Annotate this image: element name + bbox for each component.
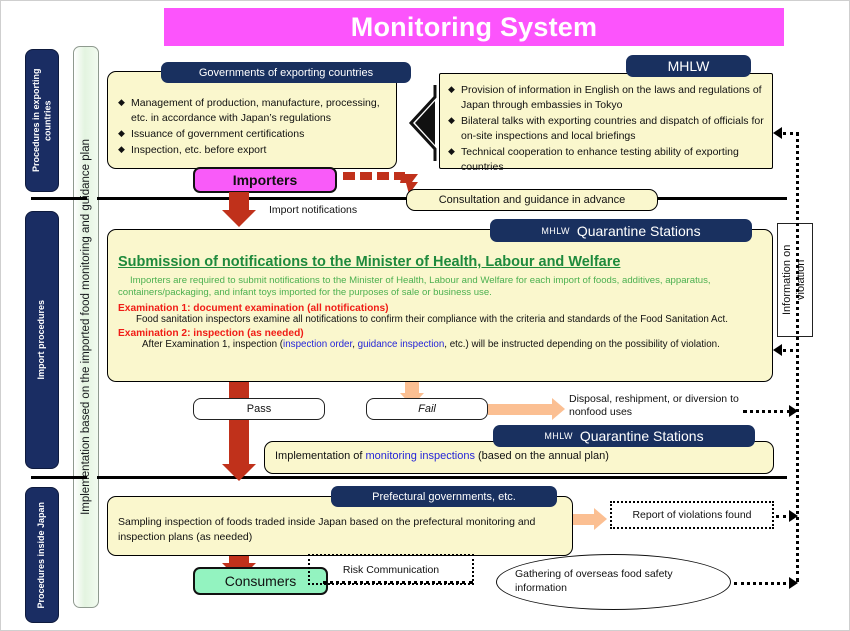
- disposal-feedback-line: [743, 410, 791, 413]
- consultation-box: Consultation and guidance in advance: [406, 189, 658, 211]
- violation-arrow-submission-icon: [773, 344, 782, 356]
- exam2-title: Examination 2: inspection (as needed): [118, 328, 762, 339]
- disposal-label: Disposal, reshipment, or diversion to no…: [569, 393, 749, 419]
- consumers-label: Consumers: [225, 573, 297, 589]
- mhlw-top-tab-label: MHLW: [668, 58, 710, 74]
- mhlw-top-panel: Provision of information in English on t…: [439, 73, 773, 169]
- monitoring-system-diagram: Monitoring System Procedures in exportin…: [0, 0, 850, 631]
- quarantine-name-1: Quarantine Stations: [577, 223, 701, 239]
- mhlw-top-tab: MHLW: [626, 55, 751, 77]
- quarantine-agency-1: MHLW: [541, 226, 569, 236]
- red-arrow-shaft-1: [229, 192, 249, 211]
- fail-box: Fail: [366, 398, 488, 420]
- importers-box[interactable]: Importers: [193, 167, 337, 193]
- mhlw-top-bullet-1: Provision of information in English on t…: [448, 83, 764, 113]
- overseas-gathering-ellipse: Gathering of overseas food safety inform…: [496, 554, 731, 610]
- exporting-gov-bullet-1: Management of production, manufacture, p…: [118, 96, 388, 126]
- report-violations-box: Report of violations found: [610, 501, 774, 529]
- red-arrow-shaft-2: [229, 382, 249, 468]
- phase-label-exporting-countries: Procedures in exporting countries: [25, 49, 59, 192]
- phase-label-import-procedures-text: Import procedures: [36, 300, 47, 380]
- consultation-label: Consultation and guidance in advance: [407, 190, 657, 210]
- phase-label-exporting-countries-text: Procedures in exporting countries: [31, 50, 54, 191]
- red-arrow-head-1: [222, 210, 256, 227]
- submission-intro: Importers are required to submit notific…: [118, 275, 762, 300]
- dashed-arrow-seg-1: [343, 172, 355, 180]
- exporting-gov-bullet-3: Inspection, etc. before export: [118, 143, 388, 158]
- section-divider-2-left: [31, 476, 87, 479]
- dashed-arrow-seg-2: [360, 172, 372, 180]
- implementation-band-text: Implementation based on the imported foo…: [80, 139, 92, 515]
- exporting-governments-tab-label: Governments of exporting countries: [199, 67, 373, 79]
- risk-communication-label: Risk Communication: [343, 564, 439, 576]
- exporting-governments-panel: Management of production, manufacture, p…: [107, 71, 397, 169]
- disposal-feedback-arrow-icon: [789, 405, 798, 417]
- prefectural-governments-tab: Prefectural governments, etc.: [331, 486, 557, 507]
- monitoring-link[interactable]: monitoring inspections: [366, 450, 475, 462]
- overseas-gathering-label: Gathering of overseas food safety inform…: [515, 568, 712, 595]
- phase-label-inside-japan: Procedures inside Japan: [25, 487, 59, 623]
- submission-heading: Submission of notifications to the Minis…: [118, 254, 762, 270]
- section-divider-2-right: [97, 476, 787, 479]
- orange-arrow-head-right-1: [552, 398, 565, 420]
- section-divider-1-left: [31, 197, 87, 200]
- quarantine-stations-tab-2: MHLW Quarantine Stations: [493, 425, 755, 447]
- exam2-prefix: After Examination 1, inspection (: [142, 339, 283, 350]
- violation-branch-submission: [783, 349, 799, 352]
- report-violations-label: Report of violations found: [632, 509, 751, 521]
- mhlw-top-bullet-3: Technical cooperation to enhance testing…: [448, 145, 764, 175]
- fail-label: Fail: [418, 403, 436, 415]
- exam2-link-guidance-inspection[interactable]: guidance inspection: [358, 339, 445, 350]
- report-feedback-arrow-icon: [789, 510, 798, 522]
- exam2-link-inspection-order[interactable]: inspection order: [283, 339, 352, 350]
- quarantine-agency-2: MHLW: [544, 431, 572, 441]
- overseas-feedback-line: [734, 582, 792, 585]
- phase-label-import-procedures: Import procedures: [25, 211, 59, 469]
- red-arrow-head-2: [222, 464, 256, 481]
- risk-communication-connector: [323, 581, 473, 584]
- exam1-title: Examination 1: document examination (all…: [118, 303, 762, 314]
- exam2-body: After Examination 1, inspection (inspect…: [118, 339, 762, 352]
- phase-label-inside-japan-text: Procedures inside Japan: [36, 502, 47, 609]
- information-on-violation-box: Information on violation: [777, 223, 813, 337]
- prefectural-governments-tab-label: Prefectural governments, etc.: [372, 491, 516, 503]
- importers-label: Importers: [233, 172, 298, 188]
- left-chevron-icon: [405, 83, 437, 163]
- page-title: Monitoring System: [164, 8, 784, 46]
- orange-arrow-shaft-3: [573, 514, 595, 525]
- exam2-suffix: , etc.) will be instructed depending on …: [444, 339, 720, 350]
- quarantine-stations-tab-1: MHLW Quarantine Stations: [490, 219, 752, 242]
- exam1-body: Food sanitation inspectors examine all n…: [118, 314, 762, 327]
- orange-arrow-head-right-2: [594, 508, 607, 530]
- information-on-violation-label: Information on violation: [781, 224, 809, 336]
- mhlw-top-bullet-2: Bilateral talks with exporting countries…: [448, 114, 764, 144]
- exporting-governments-tab: Governments of exporting countries: [161, 62, 411, 83]
- monitoring-suffix: (based on the annual plan): [475, 450, 609, 462]
- import-notifications-label: Import notifications: [269, 204, 399, 217]
- dashed-arrow-seg-3: [377, 172, 389, 180]
- exporting-gov-bullet-2: Issuance of government certifications: [118, 127, 388, 142]
- quarantine-name-2: Quarantine Stations: [580, 428, 704, 444]
- overseas-feedback-arrow-icon: [789, 577, 798, 589]
- violation-branch-mhlw: [783, 132, 799, 135]
- pass-box: Pass: [193, 398, 325, 420]
- pass-label: Pass: [247, 403, 271, 415]
- implementation-band: Implementation based on the imported foo…: [73, 46, 99, 608]
- violation-arrow-mhlw-icon: [773, 127, 782, 139]
- orange-arrow-shaft-2: [488, 404, 553, 415]
- monitoring-prefix: Implementation of: [275, 450, 366, 462]
- submission-panel: Submission of notifications to the Minis…: [107, 229, 773, 382]
